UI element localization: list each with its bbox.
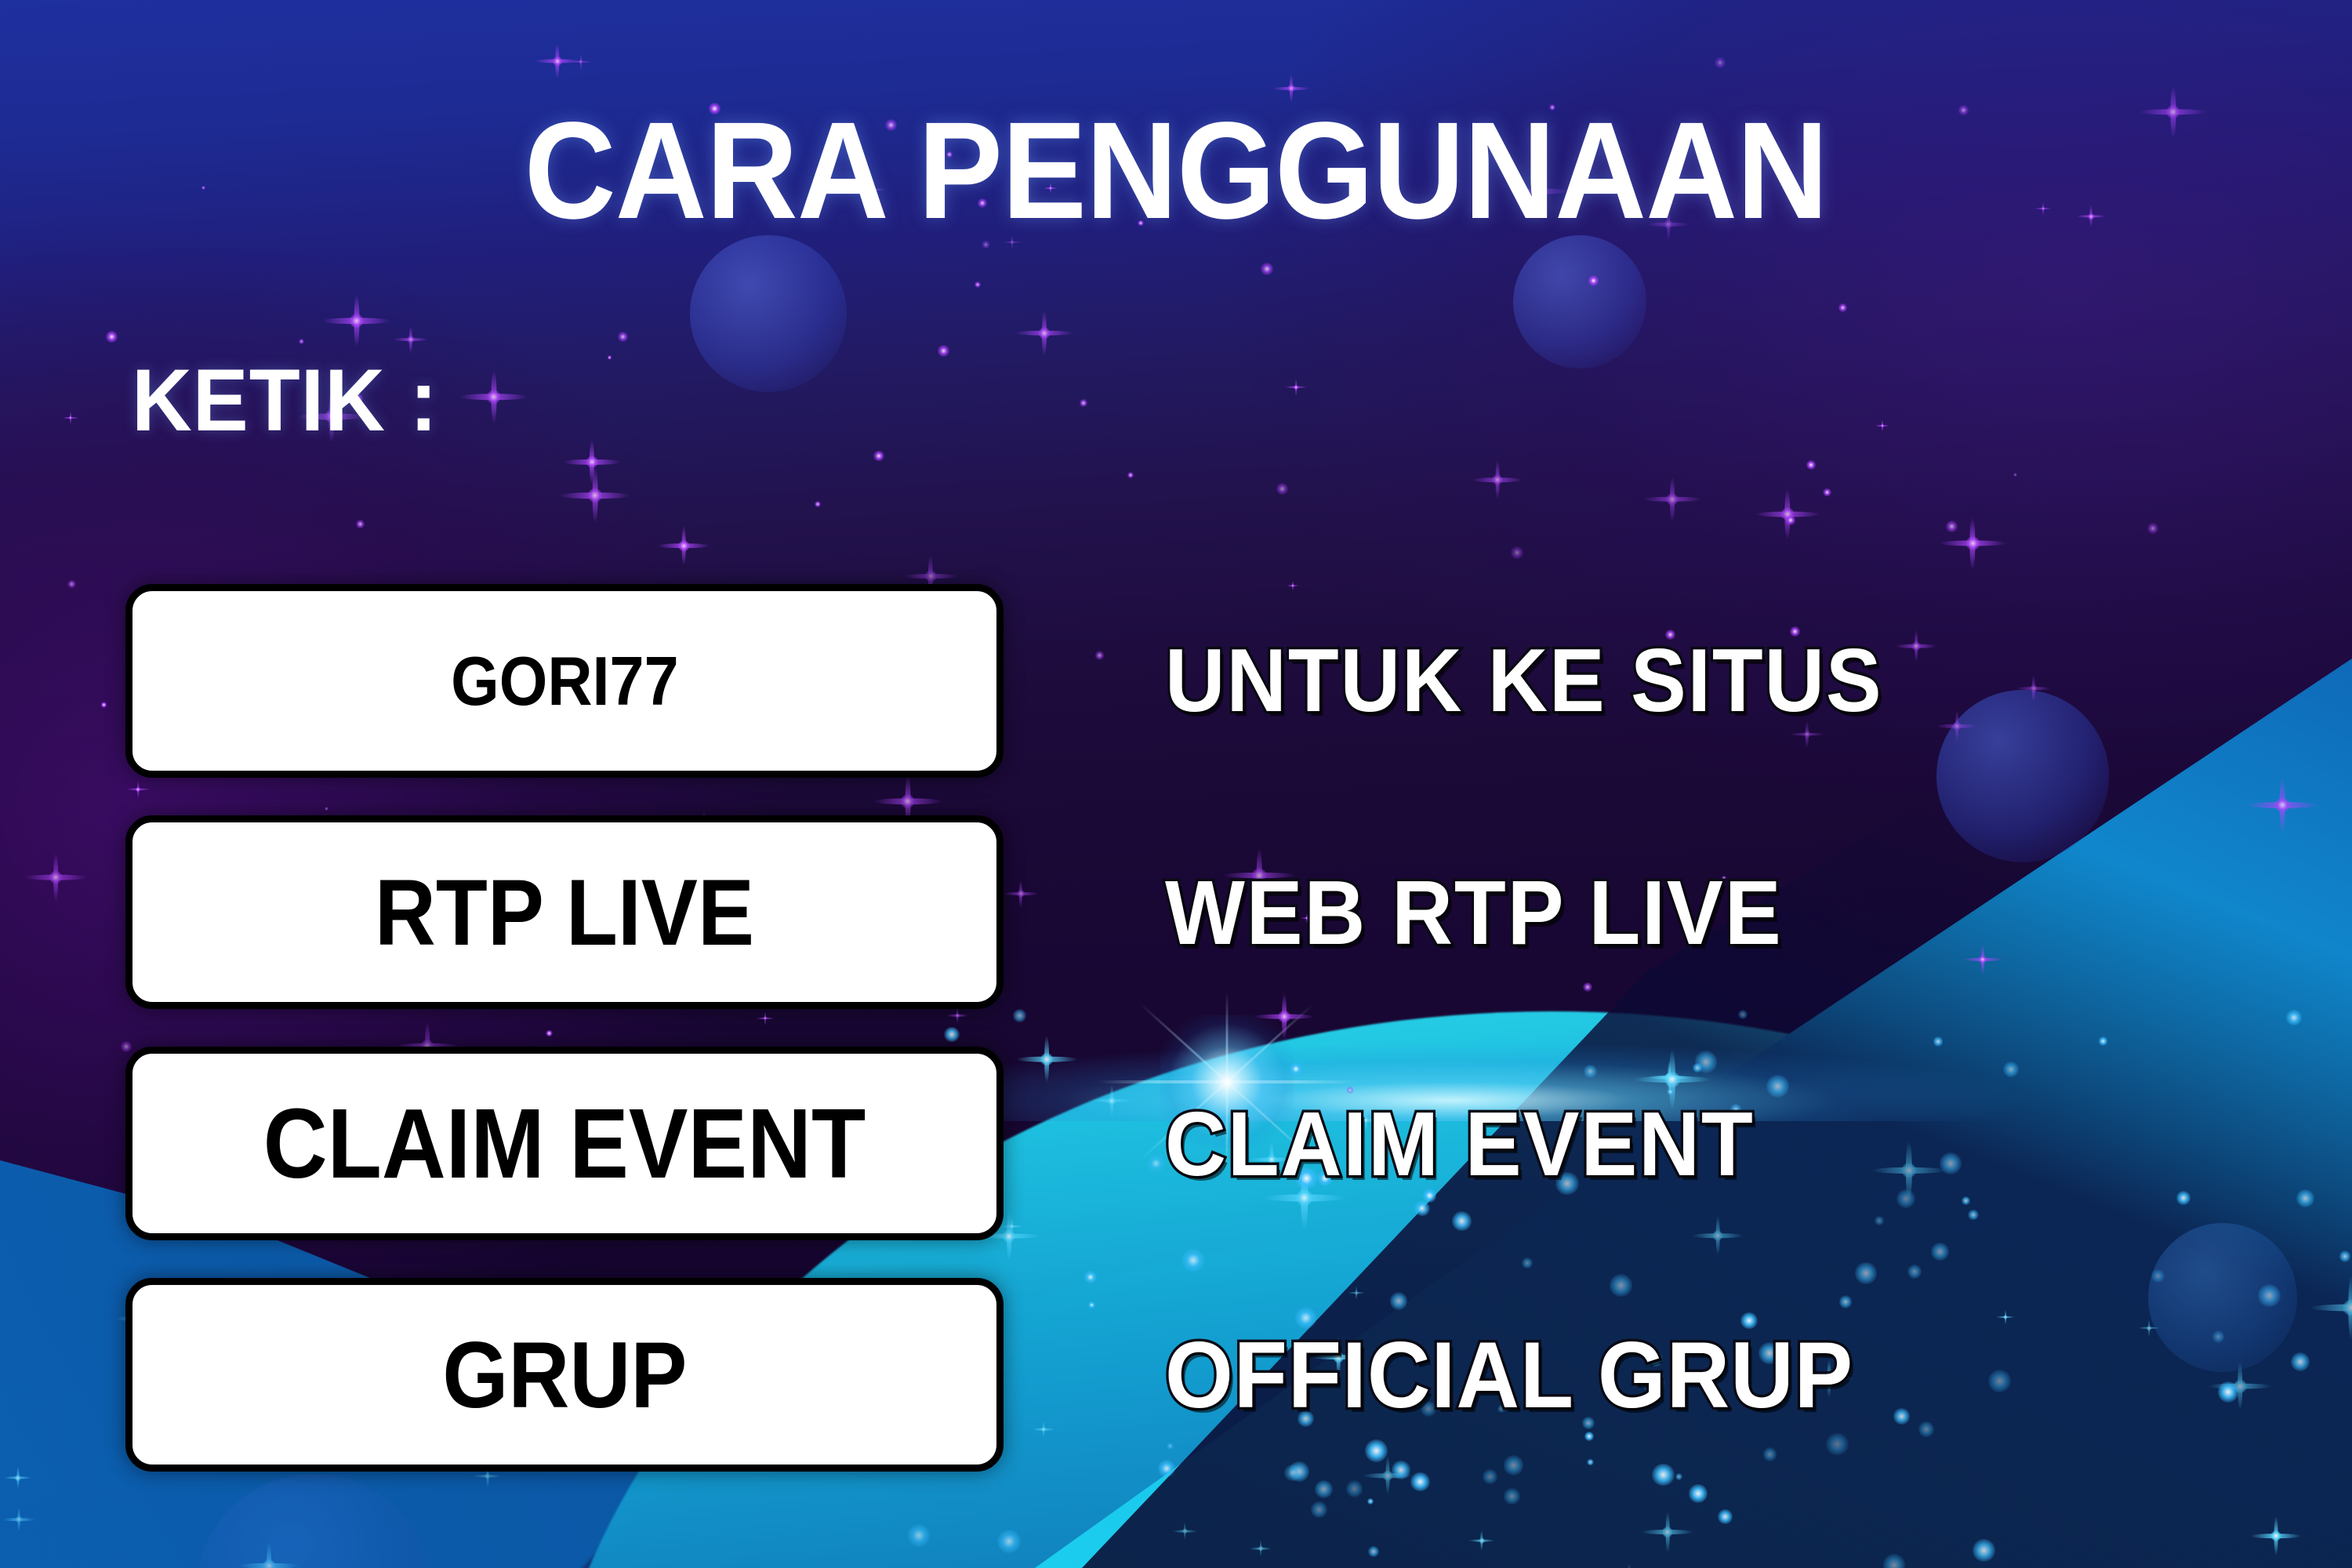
command-description-list: UNTUK KE SITUS WEB RTP LIVE CLAIM EVENT … [1165,584,2278,1509]
command-button-rtp-live[interactable]: RTP LIVE [125,815,1004,1009]
command-description-text: WEB RTP LIVE [1165,867,1783,958]
promo-banner: CARA PENGGUNAAN KETIK : GORI77 RTP LIVE … [0,0,2352,1568]
command-description-row: CLAIM EVENT [1165,1047,2278,1240]
command-button-label: GORI77 [451,647,679,716]
command-description-text: CLAIM EVENT [1165,1098,1755,1189]
page-title: CARA PENGGUNAAN [94,102,2258,240]
command-button-label: CLAIM EVENT [263,1094,866,1193]
command-description-row: OFFICIAL GRUP [1165,1278,2278,1472]
command-description-text: UNTUK KE SITUS [1165,637,1882,726]
command-description-row: WEB RTP LIVE [1165,815,2278,1009]
command-button-claim-event[interactable]: CLAIM EVENT [125,1047,1004,1240]
command-button-label: RTP LIVE [375,866,754,960]
command-button-list: GORI77 RTP LIVE CLAIM EVENT GRUP [125,584,1004,1509]
command-button-grup[interactable]: GRUP [125,1278,1004,1472]
command-description-row: UNTUK KE SITUS [1165,584,2278,778]
instruction-label: KETIK : [132,357,438,445]
command-button-label: GRUP [442,1328,687,1422]
command-button-gori77[interactable]: GORI77 [125,584,1004,778]
command-description-text: OFFICIAL GRUP [1165,1328,1853,1422]
